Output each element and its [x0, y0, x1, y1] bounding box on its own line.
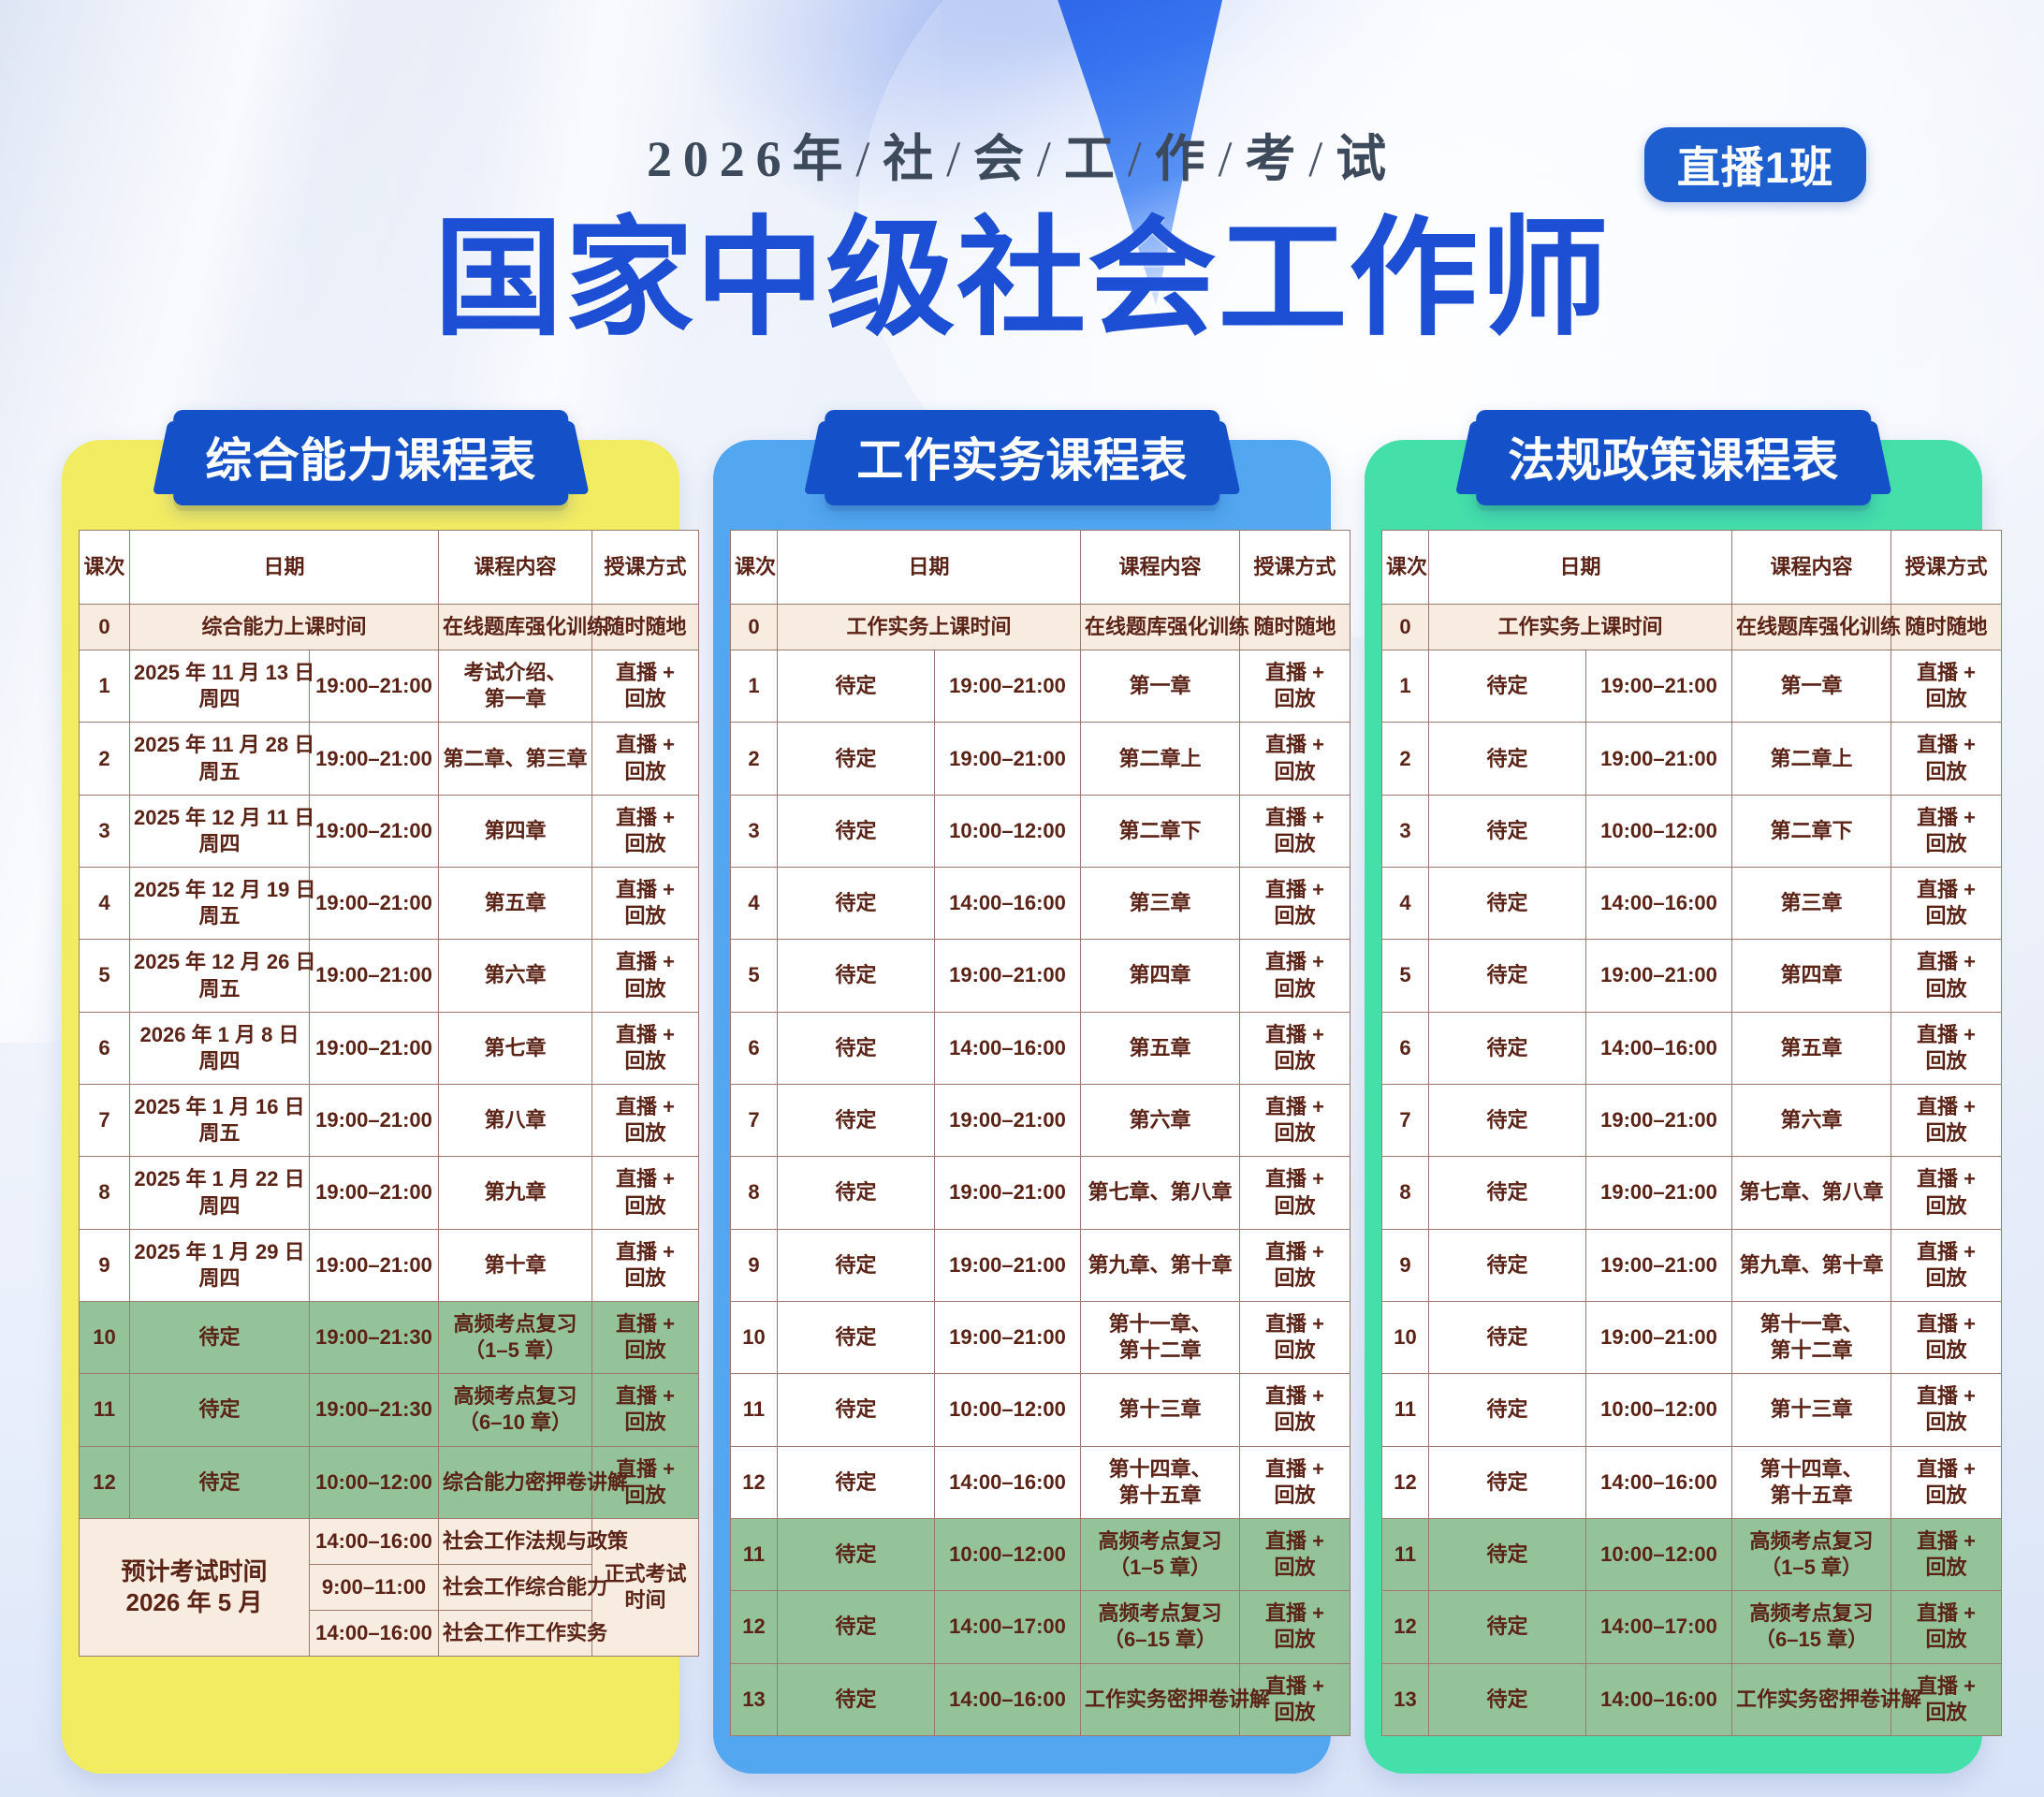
- table-row: 11待定10:00–12:00高频考点复习（1–5 章）直播 + 回放: [731, 1518, 1350, 1590]
- table-row: 8待定19:00–21:00第七章、第八章直播 + 回放: [1382, 1157, 2002, 1229]
- cell-session-number: 6: [731, 1012, 778, 1084]
- cell-time: 14:00–16:00: [1586, 1446, 1732, 1518]
- cell-session-number: 10: [1382, 1301, 1429, 1373]
- table-row: 12待定10:00–12:00综合能力密押卷讲解直播 + 回放: [80, 1446, 699, 1518]
- cell-content: 第一章: [1732, 650, 1891, 723]
- cell-time: 19:00–21:00: [310, 795, 439, 867]
- date-weekday: 周四: [134, 831, 305, 857]
- cell-time: 19:00–21:00: [310, 650, 439, 723]
- column-header: 课次: [80, 531, 130, 605]
- cell-time: 19:00–21:00: [935, 1085, 1081, 1157]
- cell-time: 19:00–21:00: [310, 1085, 439, 1157]
- table-row: 1待定19:00–21:00第一章直播 + 回放: [731, 650, 1350, 723]
- cell-exam-time: 14:00–16:00: [310, 1611, 439, 1657]
- cell-mode: 随时随地: [592, 605, 699, 650]
- cell-time: 10:00–12:00: [1586, 795, 1732, 867]
- table-row: 5待定19:00–21:00第四章直播 + 回放: [1382, 940, 2002, 1012]
- cell-time: 19:00–21:00: [1586, 1157, 1732, 1229]
- cell-time: 19:00–21:00: [310, 1229, 439, 1301]
- cell-time: 10:00–12:00: [935, 1374, 1081, 1446]
- cell-date: 待定: [778, 1157, 935, 1229]
- table-row: 2待定19:00–21:00第二章上直播 + 回放: [1382, 723, 2002, 795]
- cell-time: 19:00–21:00: [935, 940, 1081, 1012]
- cell-date: 2025 年 11 月 13 日周四: [130, 650, 310, 723]
- table-row-intro: 0综合能力上课时间在线题库强化训练随时随地: [80, 605, 699, 650]
- cell-time: 19:00–21:00: [1586, 723, 1732, 795]
- cell-session-number: 2: [80, 723, 130, 795]
- cell-time: 19:00–21:00: [310, 1012, 439, 1084]
- table-row: 4待定14:00–16:00第三章直播 + 回放: [1382, 868, 2002, 940]
- cell-session-number: 10: [731, 1301, 778, 1373]
- cell-mode: 直播 + 回放: [1891, 723, 2002, 795]
- cell-mode: 直播 + 回放: [1891, 1229, 2002, 1301]
- cell-content: 第十四章、第十五章: [1732, 1446, 1891, 1518]
- kicker-part: 工: [1064, 131, 1126, 187]
- cell-session-number: 12: [731, 1591, 778, 1663]
- cell-time: 19:00–21:00: [935, 1301, 1081, 1373]
- cell-date: 待定: [778, 1374, 935, 1446]
- cell-content: 第二章下: [1081, 795, 1240, 867]
- cell-session-number: 11: [1382, 1518, 1429, 1590]
- kicker-separator: /: [1307, 131, 1336, 187]
- table-header-row: 课次日期课程内容授课方式: [80, 531, 699, 605]
- cell-content: 第五章: [439, 868, 592, 940]
- cell-time: 19:00–21:00: [935, 650, 1081, 723]
- poster-stage: 2026年/社/会/工/作/考/试 直播1班 国家中级社会工作师 综合能力课程表…: [0, 0, 2044, 1797]
- cell-mode: 直播 + 回放: [592, 1301, 699, 1373]
- cell-date: 待定: [1429, 1518, 1586, 1590]
- cell-content: 第七章: [439, 1012, 592, 1084]
- cell-session-number: 11: [80, 1374, 130, 1446]
- cell-content: 工作实务密押卷讲解: [1081, 1663, 1240, 1735]
- cell-session-number: 9: [731, 1229, 778, 1301]
- table-row: 52025 年 12 月 26 日周五19:00–21:00第六章直播 + 回放: [80, 940, 699, 1012]
- cell-mode: 直播 + 回放: [1240, 1591, 1350, 1663]
- cell-date: 待定: [778, 723, 935, 795]
- table-row: 3待定10:00–12:00第二章下直播 + 回放: [731, 795, 1350, 867]
- cell-content: 第三章: [1081, 868, 1240, 940]
- cell-exam-subject: 社会工作法规与政策: [439, 1518, 592, 1564]
- cell-content: 第十三章: [1732, 1374, 1891, 1446]
- cell-content: 第九章、第十章: [1081, 1229, 1240, 1301]
- cell-mode: 直播 + 回放: [1891, 1591, 2002, 1663]
- cell-date: 待定: [1429, 1012, 1586, 1084]
- cell-date: 待定: [1429, 795, 1586, 867]
- cell-content: 高频考点复习（1–5 章）: [439, 1301, 592, 1373]
- cell-date: 2025 年 1 月 22 日周四: [130, 1157, 310, 1229]
- cell-mode: 直播 + 回放: [592, 1229, 699, 1301]
- cell-content: 第五章: [1732, 1012, 1891, 1084]
- date-main: 2025 年 12 月 26 日: [134, 950, 315, 973]
- cell-mode: 随时随地: [1891, 605, 2002, 650]
- column-header: 课程内容: [1081, 531, 1240, 605]
- cell-date: 待定: [778, 1446, 935, 1518]
- cell-mode: 直播 + 回放: [1240, 650, 1350, 723]
- table-row: 82025 年 1 月 22 日周四19:00–21:00第九章直播 + 回放: [80, 1157, 699, 1229]
- date-main: 2025 年 1 月 22 日: [134, 1167, 304, 1191]
- cell-date: 2025 年 12 月 26 日周五: [130, 940, 310, 1012]
- table-row: 12待定14:00–17:00高频考点复习（6–15 章）直播 + 回放: [731, 1591, 1350, 1663]
- cell-mode: 直播 + 回放: [592, 868, 699, 940]
- cell-mode: 直播 + 回放: [1240, 1518, 1350, 1590]
- cell-exam-time: 14:00–16:00: [310, 1518, 439, 1564]
- cell-session-number: 1: [731, 650, 778, 723]
- cell-content: 第二章上: [1081, 723, 1240, 795]
- content-sub: （1–5 章）: [443, 1337, 588, 1364]
- table-row: 12待定14:00–17:00高频考点复习（6–15 章）直播 + 回放: [1382, 1591, 2002, 1663]
- schedule-cards: 综合能力课程表课次日期课程内容授课方式0综合能力上课时间在线题库强化训练随时随地…: [0, 440, 2044, 1774]
- cell-session-number: 12: [80, 1446, 130, 1518]
- cell-session-number: 11: [1382, 1374, 1429, 1446]
- cell-date: 待定: [1429, 868, 1586, 940]
- cell-date: 综合能力上课时间: [130, 605, 439, 650]
- cell-date: 工作实务上课时间: [778, 605, 1081, 650]
- cell-session-number: 10: [80, 1301, 130, 1373]
- cell-mode: 直播 + 回放: [1891, 1518, 2002, 1590]
- cell-session-number: 3: [1382, 795, 1429, 867]
- page-title: 国家中级社会工作师: [0, 213, 2044, 345]
- cell-date: 待定: [1429, 1374, 1586, 1446]
- cell-date: 待定: [778, 1518, 935, 1590]
- cell-content: 第三章: [1732, 868, 1891, 940]
- date-main: 2025 年 1 月 29 日: [134, 1240, 304, 1264]
- schedule-table: 课次日期课程内容授课方式0工作实务上课时间在线题库强化训练随时随地1待定19:0…: [1381, 530, 2002, 1736]
- cell-date: 待定: [1429, 723, 1586, 795]
- table-row: 11待定10:00–12:00第十三章直播 + 回放: [1382, 1374, 2002, 1446]
- cell-content: 第十四章、第十五章: [1081, 1446, 1240, 1518]
- cell-date: 待定: [130, 1301, 310, 1373]
- cell-exam-time: 9:00–11:00: [310, 1565, 439, 1611]
- exam-period-line1: 预计考试时间: [121, 1557, 267, 1585]
- table-row: 12025 年 11 月 13 日周四19:00–21:00考试介绍、第一章直播…: [80, 650, 699, 723]
- cell-content: 第六章: [1732, 1085, 1891, 1157]
- cell-time: 19:00–21:00: [1586, 650, 1732, 723]
- cell-content: 在线题库强化训练: [1081, 605, 1240, 650]
- kicker-separator: /: [944, 131, 973, 187]
- cell-session-number: 5: [80, 940, 130, 1012]
- cell-content: 高频考点复习（6–15 章）: [1732, 1591, 1891, 1663]
- cell-content: 高频考点复习（6–10 章）: [439, 1374, 592, 1446]
- exam-footer-row: 预计考试时间2026 年 5 月14:00–16:00社会工作法规与政策正式考试…: [80, 1518, 699, 1564]
- kicker-part: 社: [883, 131, 944, 187]
- cell-mode: 直播 + 回放: [592, 1374, 699, 1446]
- cell-session-number: 12: [731, 1446, 778, 1518]
- column-header: 日期: [1429, 531, 1732, 605]
- cell-content: 考试介绍、第一章: [439, 650, 592, 723]
- cell-content: 第十章: [439, 1229, 592, 1301]
- cell-time: 19:00–21:00: [935, 1157, 1081, 1229]
- cell-mode: 直播 + 回放: [592, 1085, 699, 1157]
- table-row: 12待定14:00–16:00第十四章、第十五章直播 + 回放: [731, 1446, 1350, 1518]
- cell-session-number: 1: [1382, 650, 1429, 723]
- cell-date: 2025 年 12 月 11 日周四: [130, 795, 310, 867]
- cell-date: 待定: [778, 1663, 935, 1735]
- content-main: 高频考点复习: [1750, 1601, 1874, 1625]
- cell-time: 19:00–21:00: [1586, 1301, 1732, 1373]
- kicker-part: 试: [1336, 131, 1397, 187]
- cell-time: 10:00–12:00: [1586, 1374, 1732, 1446]
- cell-date: 待定: [778, 1229, 935, 1301]
- table-row: 8待定19:00–21:00第七章、第八章直播 + 回放: [731, 1157, 1350, 1229]
- kicker-separator: /: [1216, 131, 1245, 187]
- cell-session-number: 6: [1382, 1012, 1429, 1084]
- table-header-row: 课次日期课程内容授课方式: [731, 531, 1350, 605]
- cell-date: 2025 年 1 月 29 日周四: [130, 1229, 310, 1301]
- table-row: 10待定19:00–21:00第十一章、第十二章直播 + 回放: [1382, 1301, 2002, 1373]
- cell-session-number: 11: [731, 1518, 778, 1590]
- cell-date: 待定: [1429, 1301, 1586, 1373]
- cell-mode: 直播 + 回放: [1891, 1301, 2002, 1373]
- cell-time: 14:00–16:00: [935, 1663, 1081, 1735]
- table-row: 11待定19:00–21:30高频考点复习（6–10 章）直播 + 回放: [80, 1374, 699, 1446]
- cell-date: 2025 年 1 月 16 日周五: [130, 1085, 310, 1157]
- content-main: 高频考点复习: [1099, 1529, 1222, 1553]
- cell-time: 10:00–12:00: [1586, 1518, 1732, 1590]
- cell-date: 待定: [778, 650, 935, 723]
- content-sub: （1–5 章）: [1085, 1555, 1235, 1581]
- kicker-separator: /: [1035, 131, 1064, 187]
- cell-session-number: 11: [731, 1374, 778, 1446]
- date-main: 2025 年 12 月 19 日: [134, 878, 315, 901]
- cell-mode: 直播 + 回放: [1891, 795, 2002, 867]
- cell-content: 高频考点复习（1–5 章）: [1081, 1518, 1240, 1590]
- card-title: 综合能力课程表: [173, 410, 568, 505]
- content-sub: （6–10 章）: [443, 1410, 588, 1436]
- cell-mode: 直播 + 回放: [1891, 1012, 2002, 1084]
- table-row: 42025 年 12 月 19 日周五19:00–21:00第五章直播 + 回放: [80, 868, 699, 940]
- cell-content: 第九章: [439, 1157, 592, 1229]
- cell-date: 待定: [1429, 1157, 1586, 1229]
- cell-time: 10:00–12:00: [935, 795, 1081, 867]
- cell-session-number: 4: [1382, 868, 1429, 940]
- cell-date: 2026 年 1 月 8 日周四: [130, 1012, 310, 1084]
- cell-time: 19:00–21:00: [1586, 1229, 1732, 1301]
- cell-session-number: 13: [731, 1663, 778, 1735]
- table-row-intro: 0工作实务上课时间在线题库强化训练随时随地: [731, 605, 1350, 650]
- table-row: 62026 年 1 月 8 日周四19:00–21:00第七章直播 + 回放: [80, 1012, 699, 1084]
- cell-session-number: 0: [80, 605, 130, 650]
- schedule-card-1: 综合能力课程表课次日期课程内容授课方式0综合能力上课时间在线题库强化训练随时随地…: [62, 440, 679, 1774]
- content-main: 高频考点复习: [454, 1312, 577, 1336]
- cell-time: 14:00–16:00: [935, 1012, 1081, 1084]
- cell-mode: 直播 + 回放: [1240, 1157, 1350, 1229]
- schedule-card-2: 工作实务课程表课次日期课程内容授课方式0工作实务上课时间在线题库强化训练随时随地…: [713, 440, 1331, 1774]
- cell-session-number: 7: [731, 1085, 778, 1157]
- class-badge: 直播1班: [1644, 127, 1866, 202]
- content-main: 高频考点复习: [454, 1384, 577, 1408]
- cell-content: 第八章: [439, 1085, 592, 1157]
- exam-period-line2: 2026 年 5 月: [83, 1587, 305, 1618]
- cell-content: 第二章上: [1732, 723, 1891, 795]
- cell-content: 第四章: [1732, 940, 1891, 1012]
- table-row: 5待定19:00–21:00第四章直播 + 回放: [731, 940, 1350, 1012]
- cell-mode: 直播 + 回放: [1891, 1085, 2002, 1157]
- cell-date: 待定: [1429, 940, 1586, 1012]
- cell-content: 高频考点复习（6–15 章）: [1081, 1591, 1240, 1663]
- cell-exam-subject: 社会工作综合能力: [439, 1565, 592, 1611]
- table-row: 7待定19:00–21:00第六章直播 + 回放: [1382, 1085, 2002, 1157]
- cell-content: 第十一章、第十二章: [1081, 1301, 1240, 1373]
- content-main: 高频考点复习: [1099, 1601, 1222, 1625]
- cell-mode: 直播 + 回放: [1240, 723, 1350, 795]
- kicker-separator: /: [854, 131, 883, 187]
- cell-date: 待定: [778, 1012, 935, 1084]
- cell-date: 待定: [778, 1301, 935, 1373]
- date-weekday: 周四: [134, 1048, 305, 1074]
- cell-session-number: 4: [80, 868, 130, 940]
- table-row: 11待定10:00–12:00高频考点复习（1–5 章）直播 + 回放: [1382, 1518, 2002, 1590]
- date-weekday: 周五: [134, 903, 305, 929]
- cell-session-number: 7: [1382, 1085, 1429, 1157]
- cell-time: 10:00–12:00: [935, 1518, 1081, 1590]
- cell-time: 14:00–16:00: [935, 1446, 1081, 1518]
- cell-mode: 直播 + 回放: [1240, 940, 1350, 1012]
- cell-date: 待定: [1429, 650, 1586, 723]
- kicker-part: 会: [973, 131, 1035, 187]
- cell-mode: 直播 + 回放: [592, 1157, 699, 1229]
- column-header: 课次: [1382, 531, 1429, 605]
- cell-content: 第五章: [1081, 1012, 1240, 1084]
- cell-mode: 直播 + 回放: [1240, 1012, 1350, 1084]
- kicker-separator: /: [1126, 131, 1155, 187]
- table-row: 10待定19:00–21:00第十一章、第十二章直播 + 回放: [731, 1301, 1350, 1373]
- date-weekday: 周五: [134, 976, 305, 1002]
- cell-session-number: 2: [731, 723, 778, 795]
- card-title: 工作实务课程表: [825, 410, 1219, 505]
- cell-time: 19:00–21:00: [310, 1157, 439, 1229]
- cell-session-number: 9: [1382, 1229, 1429, 1301]
- cell-date: 待定: [1429, 1663, 1586, 1735]
- cell-session-number: 0: [1382, 605, 1429, 650]
- cell-session-number: 3: [731, 795, 778, 867]
- date-weekday: 周四: [134, 686, 305, 712]
- kicker-part: 作: [1155, 131, 1217, 187]
- cell-mode: 直播 + 回放: [1240, 1229, 1350, 1301]
- cell-mode: 直播 + 回放: [592, 723, 699, 795]
- cell-session-number: 5: [731, 940, 778, 1012]
- cell-session-number: 12: [1382, 1446, 1429, 1518]
- schedule-card-3: 法规政策课程表课次日期课程内容授课方式0工作实务上课时间在线题库强化训练随时随地…: [1365, 440, 1982, 1774]
- date-weekday: 周五: [134, 759, 305, 785]
- cell-mode: 直播 + 回放: [592, 795, 699, 867]
- table-row: 13待定14:00–16:00工作实务密押卷讲解直播 + 回放: [731, 1663, 1350, 1735]
- cell-mode: 直播 + 回放: [1240, 1085, 1350, 1157]
- table-row: 13待定14:00–16:00工作实务密押卷讲解直播 + 回放: [1382, 1663, 2002, 1735]
- date-main: 2025 年 1 月 16 日: [134, 1095, 304, 1118]
- cell-mode: 直播 + 回放: [1240, 1301, 1350, 1373]
- table-row-intro: 0工作实务上课时间在线题库强化训练随时随地: [1382, 605, 2002, 650]
- table-header-row: 课次日期课程内容授课方式: [1382, 531, 2002, 605]
- cell-mode: 直播 + 回放: [1240, 868, 1350, 940]
- cell-date: 待定: [778, 795, 935, 867]
- cell-content: 第十三章: [1081, 1374, 1240, 1446]
- column-header: 日期: [778, 531, 1081, 605]
- exam-official-line1: 正式考试: [605, 1562, 687, 1585]
- cell-exam-subject: 社会工作工作实务: [439, 1611, 592, 1657]
- cell-content: 在线题库强化训练: [439, 605, 592, 650]
- cell-mode: 直播 + 回放: [1891, 940, 2002, 1012]
- cell-time: 19:00–21:00: [310, 723, 439, 795]
- cell-mode: 直播 + 回放: [592, 940, 699, 1012]
- cell-content: 第二章下: [1732, 795, 1891, 867]
- cell-content: 第四章: [439, 795, 592, 867]
- cell-session-number: 2: [1382, 723, 1429, 795]
- table-row: 3待定10:00–12:00第二章下直播 + 回放: [1382, 795, 2002, 867]
- exam-period-label: 预计考试时间2026 年 5 月: [80, 1518, 310, 1656]
- date-weekday: 周五: [134, 1120, 305, 1147]
- cell-content: 第九章、第十章: [1732, 1229, 1891, 1301]
- cell-content: 在线题库强化训练: [1732, 605, 1891, 650]
- cell-time: 14:00–16:00: [1586, 868, 1732, 940]
- table-row: 9待定19:00–21:00第九章、第十章直播 + 回放: [731, 1229, 1350, 1301]
- cell-time: 19:00–21:00: [310, 868, 439, 940]
- table-row: 6待定14:00–16:00第五章直播 + 回放: [731, 1012, 1350, 1084]
- cell-session-number: 9: [80, 1229, 130, 1301]
- cell-time: 19:00–21:00: [310, 940, 439, 1012]
- cell-mode: 直播 + 回放: [1891, 1157, 2002, 1229]
- cell-date: 2025 年 12 月 19 日周五: [130, 868, 310, 940]
- cell-content: 高频考点复习（1–5 章）: [1732, 1518, 1891, 1590]
- cell-time: 19:00–21:30: [310, 1301, 439, 1373]
- cell-content: 第六章: [1081, 1085, 1240, 1157]
- table-row: 10待定19:00–21:30高频考点复习（1–5 章）直播 + 回放: [80, 1301, 699, 1373]
- cell-content: 第四章: [1081, 940, 1240, 1012]
- date-main: 2025 年 12 月 11 日: [134, 806, 314, 829]
- cell-session-number: 8: [731, 1157, 778, 1229]
- cell-date: 待定: [1429, 1446, 1586, 1518]
- cell-session-number: 5: [1382, 940, 1429, 1012]
- cell-session-number: 6: [80, 1012, 130, 1084]
- cell-time: 14:00–16:00: [935, 868, 1081, 940]
- cell-date: 待定: [778, 868, 935, 940]
- cell-session-number: 13: [1382, 1663, 1429, 1735]
- content-sub: （6–15 章）: [1736, 1627, 1887, 1653]
- cell-session-number: 0: [731, 605, 778, 650]
- cell-content: 第一章: [1081, 650, 1240, 723]
- cell-date: 待定: [778, 1085, 935, 1157]
- cell-date: 待定: [130, 1446, 310, 1518]
- cell-session-number: 12: [1382, 1591, 1429, 1663]
- cell-time: 19:00–21:00: [1586, 940, 1732, 1012]
- table-row: 7待定19:00–21:00第六章直播 + 回放: [731, 1085, 1350, 1157]
- table-row: 11待定10:00–12:00第十三章直播 + 回放: [731, 1374, 1350, 1446]
- cell-session-number: 3: [80, 795, 130, 867]
- schedule-table: 课次日期课程内容授课方式0综合能力上课时间在线题库强化训练随时随地12025 年…: [79, 530, 699, 1657]
- date-main: 2025 年 11 月 13 日: [134, 661, 314, 684]
- cell-date: 待定: [1429, 1229, 1586, 1301]
- content-main: 高频考点复习: [1750, 1529, 1874, 1553]
- cell-mode: 直播 + 回放: [1891, 1446, 2002, 1518]
- cell-time: 19:00–21:00: [1586, 1085, 1732, 1157]
- cell-content: 第七章、第八章: [1081, 1157, 1240, 1229]
- cell-date: 工作实务上课时间: [1429, 605, 1732, 650]
- cell-content: 第二章、第三章: [439, 723, 592, 795]
- cell-date: 待定: [130, 1374, 310, 1446]
- cell-time: 14:00–16:00: [1586, 1012, 1732, 1084]
- cell-session-number: 8: [1382, 1157, 1429, 1229]
- cell-time: 10:00–12:00: [310, 1446, 439, 1518]
- table-row: 92025 年 1 月 29 日周四19:00–21:00第十章直播 + 回放: [80, 1229, 699, 1301]
- cell-time: 14:00–16:00: [1586, 1663, 1732, 1735]
- cell-time: 19:00–21:00: [935, 1229, 1081, 1301]
- column-header: 课程内容: [1732, 531, 1891, 605]
- date-main: 2026 年 1 月 8 日: [140, 1023, 299, 1046]
- cell-date: 待定: [778, 940, 935, 1012]
- cell-content: 第十一章、第十二章: [1732, 1301, 1891, 1373]
- cell-date: 待定: [1429, 1085, 1586, 1157]
- cell-mode: 直播 + 回放: [1891, 1374, 2002, 1446]
- cell-mode: 直播 + 回放: [1891, 650, 2002, 723]
